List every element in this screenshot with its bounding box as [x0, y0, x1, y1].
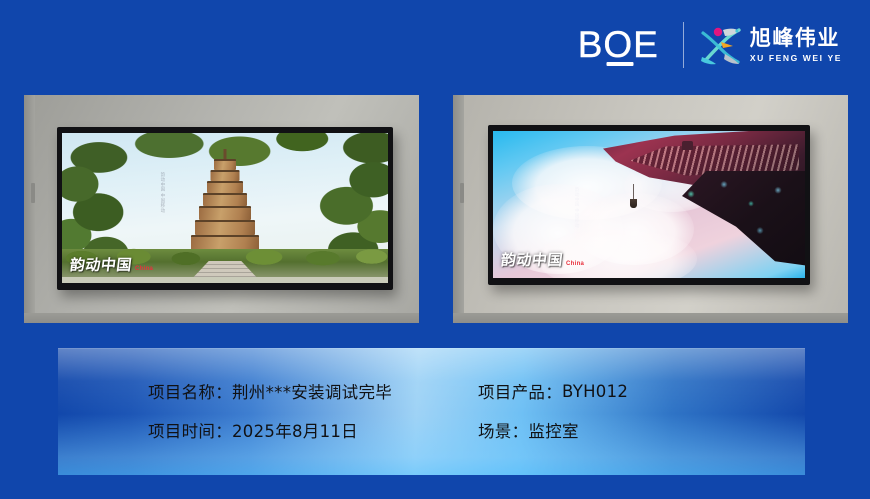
page-header: BOE 旭峰伟业 XU FENG WEI YE — [0, 0, 870, 92]
project-product-value: BYH012 — [562, 382, 628, 401]
screen-side-text-right: 韵动中国 中国移动 — [574, 187, 580, 231]
partner-text: 旭峰伟业 XU FENG WEI YE — [750, 28, 842, 63]
watermark-en: China — [566, 261, 584, 267]
info-panel: 项目名称： 荆州***安装调试完毕 项目产品： BYH012 项目时间： 202… — [58, 348, 805, 475]
display-screen-left: 韵动中国 中国移动 韵动中国 China — [62, 133, 388, 283]
eave-bracket-body — [667, 171, 805, 267]
project-time-label: 项目时间： — [148, 418, 232, 442]
watermark-cn: 韵动中国 — [69, 254, 134, 275]
scene-row: 场景： 监控室 — [478, 418, 805, 442]
wall-notch — [31, 183, 35, 203]
project-name-row: 项目名称： 荆州***安装调试完毕 — [148, 372, 478, 411]
screen-side-text-left: 韵动中国 中国移动 — [160, 172, 166, 216]
pagoda-tier — [203, 193, 247, 206]
scene-label: 场景： — [478, 418, 528, 442]
photo-gallery: 韵动中国 中国移动 韵动中国 China — [24, 95, 848, 323]
scene-value: 监控室 — [528, 418, 578, 442]
display-screen-right: 韵动中国 中国移动 韵动中国 China — [493, 131, 805, 278]
wall-base — [24, 313, 419, 323]
boe-logo: BOE — [578, 25, 663, 65]
pagoda-spire — [224, 149, 227, 159]
project-time-value: 2025年8月11日 — [232, 418, 358, 442]
wind-bell-icon — [630, 199, 637, 208]
brand-row: BOE 旭峰伟业 XU FENG WEI YE — [578, 20, 842, 70]
pagoda-tier — [211, 170, 240, 181]
wall-mounted-display-right: 韵动中国 中国移动 韵动中国 China — [488, 125, 810, 285]
partner-name-en: XU FENG WEI YE — [750, 54, 842, 63]
project-name-value: 荆州***安装调试完毕 — [232, 379, 392, 403]
boe-logo-underline-icon — [607, 62, 634, 66]
pagoda-tier — [199, 206, 251, 220]
info-grid: 项目名称： 荆州***安装调试完毕 项目产品： BYH012 项目时间： 202… — [58, 348, 805, 475]
pagoda-tier — [195, 220, 255, 235]
wall-seam — [453, 95, 464, 323]
pagoda-tier — [214, 159, 236, 170]
boe-logo-text: BOE — [578, 25, 659, 65]
project-product-row: 项目产品： BYH012 — [478, 372, 805, 411]
wall-base — [453, 313, 848, 323]
photo-right[interactable]: 韵动中国 中国移动 韵动中国 China — [453, 95, 848, 323]
wall-notch — [460, 183, 464, 203]
project-product-label: 项目产品： — [478, 379, 562, 403]
watermark-en: China — [135, 266, 153, 272]
screen-watermark-left: 韵动中国 China — [70, 254, 153, 275]
partner-name-cn: 旭峰伟业 — [750, 28, 842, 49]
wall-seam — [24, 95, 35, 323]
photo-left[interactable]: 韵动中国 中国移动 韵动中国 China — [24, 95, 419, 323]
screen-watermark-right: 韵动中国 China — [501, 249, 584, 270]
pagoda-tier — [207, 181, 243, 193]
partner-brand: 旭峰伟业 XU FENG WEI YE — [699, 24, 842, 66]
vertical-divider-icon — [683, 22, 684, 68]
roof-ridge-ornament — [682, 141, 693, 150]
foreground-path — [62, 277, 388, 283]
watermark-cn: 韵动中国 — [500, 249, 565, 270]
bird-x-mark-icon — [699, 24, 743, 66]
wall-mounted-display-left: 韵动中国 中国移动 韵动中国 China — [57, 127, 393, 290]
project-time-row: 项目时间： 2025年8月11日 — [148, 418, 478, 442]
project-name-label: 项目名称： — [148, 379, 232, 403]
